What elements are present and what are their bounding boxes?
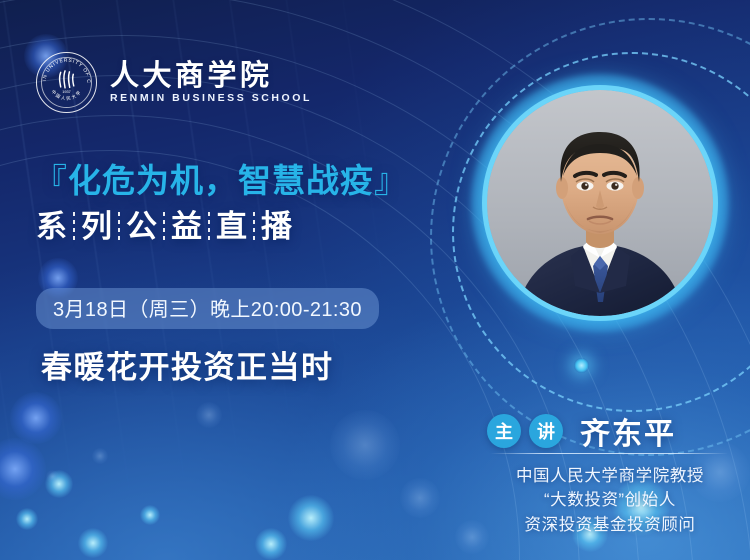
light-orb xyxy=(45,470,73,498)
brand-logo: RENMIN UNIVERSITY OF CHINA 中国人民大学 1937 人… xyxy=(36,52,312,113)
svg-text:RENMIN UNIVERSITY OF CHINA: RENMIN UNIVERSITY OF CHINA xyxy=(37,53,91,84)
subhead-separator xyxy=(73,212,75,242)
light-orb xyxy=(196,402,222,428)
speaker-badge-char-1: 主 xyxy=(487,414,521,448)
light-orb xyxy=(92,448,108,464)
headline-bracket-close: 』 xyxy=(374,162,408,199)
headline-text: 化危为机，智慧战疫 xyxy=(68,162,374,199)
light-orb xyxy=(0,438,46,500)
arc-endpoint-dot xyxy=(574,358,589,373)
poster-canvas: RENMIN UNIVERSITY OF CHINA 中国人民大学 1937 人… xyxy=(0,0,750,560)
subhead-char: 益 xyxy=(171,208,202,247)
subhead-char: 直 xyxy=(216,208,247,247)
svg-text:中国人民大学: 中国人民大学 xyxy=(50,88,83,102)
light-orb xyxy=(255,528,287,560)
credential-line: 资深投资基金投资顾问 xyxy=(465,513,750,537)
university-seal-icon: RENMIN UNIVERSITY OF CHINA 中国人民大学 1937 xyxy=(36,52,97,113)
speaker-badge-char-2: 讲 xyxy=(529,414,563,448)
subhead-separator xyxy=(208,212,210,242)
subheadline: 系 列 公 益 直 播 xyxy=(36,208,292,247)
light-orb xyxy=(16,508,38,530)
portrait-ring xyxy=(487,90,713,316)
speaker-credentials: 中国人民大学商学院教授 “大数投资”创始人 资深投资基金投资顾问 xyxy=(465,464,750,537)
brand-name-cn: 人大商学院 xyxy=(110,61,312,91)
brand-name-en: RENMIN BUSINESS SCHOOL xyxy=(110,93,312,105)
subhead-separator xyxy=(163,212,165,242)
speaker-name: 齐东平 xyxy=(580,409,676,453)
event-datetime-badge: 3月18日（周三）晚上20:00-21:30 xyxy=(36,288,379,329)
speaker-header: 主 讲 齐东平 xyxy=(487,409,676,453)
light-orb xyxy=(10,392,62,444)
subhead-char: 列 xyxy=(81,208,112,247)
light-orb xyxy=(46,470,59,483)
subhead-char: 系 xyxy=(36,208,67,247)
speaker-divider xyxy=(490,453,728,454)
credential-line: “大数投资”创始人 xyxy=(465,488,750,512)
event-topic-title: 春暖花开投资正当时 xyxy=(41,342,334,387)
light-orb xyxy=(78,528,108,558)
headline: 『化危为机，智慧战疫』 xyxy=(34,160,408,201)
light-orb xyxy=(330,410,400,480)
subhead-separator xyxy=(253,212,255,242)
speaker-portrait-frame xyxy=(487,90,713,316)
subhead-char: 公 xyxy=(126,208,157,247)
credential-line: 中国人民大学商学院教授 xyxy=(465,464,750,488)
headline-bracket-open: 『 xyxy=(34,162,68,199)
subhead-separator xyxy=(118,212,120,242)
light-orb xyxy=(288,495,334,541)
subhead-char: 播 xyxy=(261,208,292,247)
light-orb xyxy=(140,505,160,525)
light-orb xyxy=(400,478,440,518)
svg-text:1937: 1937 xyxy=(62,90,71,94)
